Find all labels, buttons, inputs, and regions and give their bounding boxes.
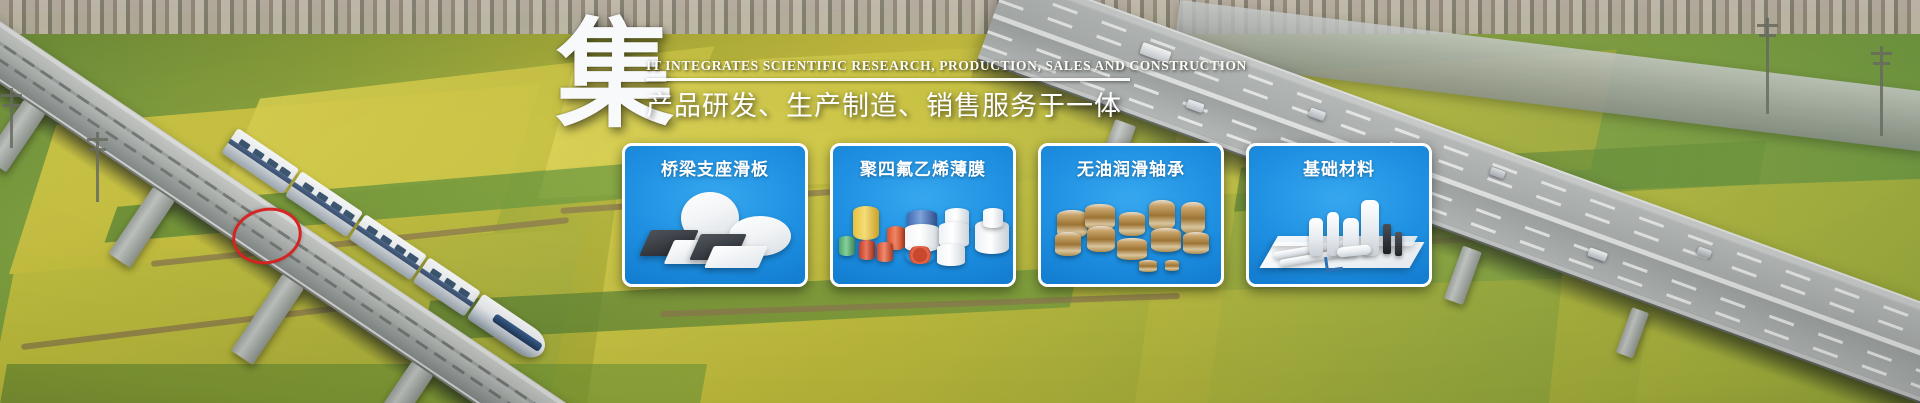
ptfe-tube — [1309, 218, 1323, 256]
bronze-bushing — [1183, 232, 1209, 254]
product-card-list: 桥梁支座滑板 聚四氟乙烯薄膜 — [622, 143, 1432, 287]
bronze-bushing — [1151, 228, 1181, 252]
product-card-image-bushings — [1041, 184, 1221, 284]
product-card-image-film-rolls — [833, 184, 1013, 284]
product-card-ptfe-film[interactable]: 聚四氟乙烯薄膜 — [830, 143, 1016, 287]
product-card-title: 桥梁支座滑板 — [625, 155, 805, 180]
bronze-bushing — [1119, 212, 1145, 236]
bronze-bushing — [1181, 202, 1205, 234]
headline-block: 集 IT INTEGRATES SCIENTIFIC RESEARCH, PRO… — [556, 18, 1196, 138]
product-card-basic-material[interactable]: 基础材料 — [1246, 143, 1432, 287]
film-roll-white — [983, 208, 1003, 228]
product-card-title: 聚四氟乙烯薄膜 — [833, 155, 1013, 180]
bronze-bushing-small — [1139, 260, 1157, 272]
headline-divider — [646, 78, 1130, 81]
bronze-bushing — [1087, 226, 1115, 252]
carbon-filled-rod — [1395, 232, 1402, 256]
film-ring-red — [905, 246, 935, 264]
product-card-title: 基础材料 — [1249, 155, 1429, 180]
bronze-bushing — [1055, 232, 1081, 256]
product-card-image-slide-plates — [625, 184, 805, 284]
bronze-bushing-small — [1165, 260, 1179, 271]
product-card-title: 无油润滑轴承 — [1041, 155, 1221, 180]
product-card-image-rods-sheets — [1249, 184, 1429, 284]
bronze-bushing — [1149, 200, 1175, 230]
bronze-bushing — [1117, 238, 1147, 260]
chinese-subtitle: 产品研发、生产制造、销售服务于一体 — [646, 84, 1196, 123]
film-roll-yellow — [853, 206, 879, 240]
carbon-filled-rod — [1383, 224, 1391, 254]
product-card-oilless-bearing[interactable]: 无油润滑轴承 — [1038, 143, 1224, 287]
ptfe-plate — [704, 246, 768, 268]
film-roll-red — [859, 240, 875, 260]
film-roll-green — [839, 236, 855, 256]
product-card-bridge-slide-plate[interactable]: 桥梁支座滑板 — [622, 143, 808, 287]
headline-text-group: IT INTEGRATES SCIENTIFIC RESEARCH, PRODU… — [646, 58, 1196, 123]
english-tagline: IT INTEGRATES SCIENTIFIC RESEARCH, PRODU… — [646, 58, 1196, 74]
film-roll-red — [877, 242, 893, 262]
film-roll-white — [937, 244, 965, 266]
hero-banner: 集 IT INTEGRATES SCIENTIFIC RESEARCH, PRO… — [0, 0, 1920, 403]
blue-bracket — [1324, 255, 1343, 272]
